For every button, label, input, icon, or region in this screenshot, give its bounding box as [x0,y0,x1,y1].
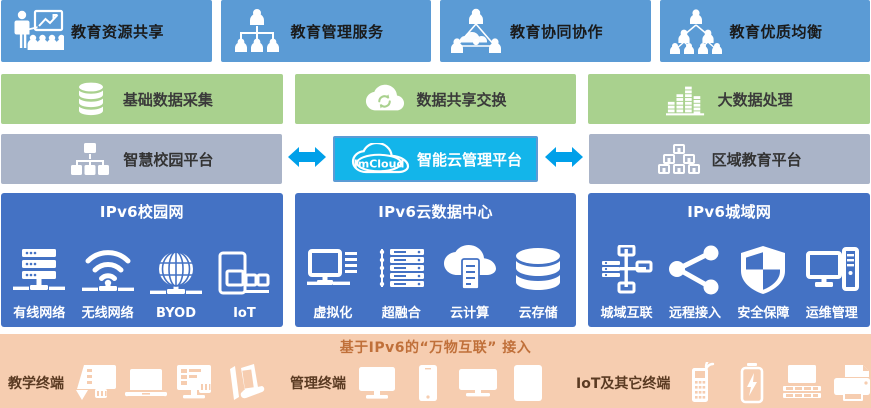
ipv6-item-label: 安全保障 [737,302,789,321]
data-card-label: 基础数据采集 [123,89,213,110]
ipv6-item-hyperconverged[interactable]: 超融合 [372,241,430,321]
cordless-phone-icon [680,361,724,405]
ipv6-item-label: 无线网络 [82,302,134,321]
ipv6-item-label: 远程接入 [669,302,721,321]
terminal-group-management: 管理终端 [290,361,550,405]
ipv6-panel-items: 有线网络 [1,226,283,327]
desktop-virtualization-icon [304,241,362,299]
ipv6-item-cloud-storage[interactable]: 云存储 [509,241,567,321]
service-card-education-collaboration[interactable]: 教育协同协作 [440,0,651,62]
cloud-storage-disks-icon [509,241,567,299]
service-card-education-management-service[interactable]: 教育管理服务 [221,0,432,62]
ipv6-row: IPv6校园网 [0,193,871,327]
ipv6-panel-items: 城域互联 [588,226,870,327]
service-card-label: 教育优质均衡 [730,21,823,42]
arrow-right-container [538,144,589,174]
terminal-group-label: IoT及其它终端 [576,373,670,393]
smartphone-icon [406,361,450,405]
share-nodes-remote-icon [666,241,724,299]
platform-card-label: 智慧校园平台 [123,149,213,170]
ipv6-item-label: BYOD [156,306,196,321]
ipv6-item-security[interactable]: 安全保障 [734,241,792,321]
desktop-monitor-icon [356,361,400,405]
ipv6-item-operations-management[interactable]: 运维管理 [803,241,861,321]
cloud-management-platform-card[interactable]: ImCloud 智能云管理平台 [333,136,539,182]
ipv6-item-virtualization[interactable]: 虚拟化 [304,241,362,321]
platform-card-regional-education[interactable]: 区域教育平台 [589,134,870,184]
ipv6-panel-metro-network[interactable]: IPv6城域网 [588,193,870,327]
cloud-collaboration-people-icon [448,6,504,56]
campus-network-tree-icon [69,140,111,178]
hyperconverged-rack-icon [372,241,430,299]
terminals-row: 基于IPv6的“万物互联” 接入 教学终端 [0,334,871,408]
database-stack-icon [71,81,111,117]
handheld-device-hand-icon [224,361,268,405]
ipv6-item-label: 云存储 [519,302,558,321]
double-arrow-right-icon [543,144,585,174]
data-card-data-sharing-exchange[interactable]: 数据共享交换 [295,74,577,124]
service-card-label: 教育资源共享 [71,21,164,42]
wifi-signal-icon [79,241,137,299]
service-card-education-quality-balance[interactable]: 教育优质均衡 [660,0,871,62]
ipv6-item-label: 城域互联 [601,302,653,321]
service-card-label: 教育协同协作 [510,21,603,42]
imcloud-logo-icon: ImCloud [349,142,415,176]
printer-icon [830,361,871,405]
server-rack-wired-icon [10,241,68,299]
av-equipment-icon [780,361,824,405]
ipv6-item-label: 有线网络 [13,302,65,321]
terminals-band-title: 基于IPv6的“万物互联” 接入 [0,337,871,357]
widescreen-monitor-icon [456,361,500,405]
ipv6-item-wireless-network[interactable]: 无线网络 [79,241,137,321]
platform-card-smart-campus[interactable]: 智慧校园平台 [1,134,282,184]
bar-chart-bigdata-icon [666,81,706,117]
org-hierarchy-people-icon [229,6,285,56]
globe-network-icon [147,245,205,303]
ipv6-item-cloud-computing[interactable]: 云计算 [441,241,499,321]
ipv6-panel-items: 虚拟化 [295,226,577,327]
terminal-group-iot-other: IoT及其它终端 [576,361,871,405]
terminals-groups: 教学终端 [0,358,871,408]
ipv6-item-remote-access[interactable]: 远程接入 [666,241,724,321]
platform-row: 智慧校园平台 ImCloud 智能云管理平台 [0,133,871,185]
cloud-sync-icon [365,81,405,117]
cloud-compute-icon [441,241,499,299]
terminal-group-label: 管理终端 [290,373,346,393]
ipv6-item-wired-network[interactable]: 有线网络 [10,241,68,321]
ipv6-item-label: 超融合 [382,302,421,321]
terminal-group-icons [680,361,871,405]
data-card-label: 大数据处理 [718,89,793,110]
tablet-icon [506,361,550,405]
imcloud-brand-text: ImCloud [354,157,405,170]
platform-card-label: 区域教育平台 [712,149,802,170]
terminal-group-teaching: 教学终端 [8,361,268,405]
ipv6-item-label: 云计算 [450,302,489,321]
monitor-ops-icon [803,241,861,299]
data-card-bigdata-processing[interactable]: 大数据处理 [588,74,870,124]
metro-interconnect-icon [598,241,656,299]
terminal-group-icons [356,361,550,405]
ipv6-item-metro-interconnect[interactable]: 城域互联 [598,241,656,321]
ipv6-panel-campus-network[interactable]: IPv6校园网 [1,193,283,327]
ipv6-item-label: 运维管理 [806,302,858,321]
terminal-group-icons [74,361,268,405]
terminal-group-label: 教学终端 [8,373,64,393]
data-row: 基础数据采集 数据共享交换 [0,74,871,126]
ipv6-item-iot[interactable]: IoT [215,245,273,321]
services-row: 教育资源共享 [0,0,871,66]
ipv6-item-label: 虚拟化 [313,302,352,321]
data-card-label: 数据共享交换 [417,89,507,110]
power-battery-icon [730,361,774,405]
ipv6-panel-title: IPv6云数据中心 [378,201,493,222]
buildings-stack-icon [658,140,700,178]
ipv6-panel-cloud-data-center[interactable]: IPv6云数据中心 [295,193,577,327]
data-card-basic-data-collection[interactable]: 基础数据采集 [1,74,283,124]
ipv6-panel-title: IPv6校园网 [100,201,184,222]
teacher-presentation-icon [9,6,65,56]
ipv6-education-architecture-diagram: 教育资源共享 [0,0,871,408]
service-card-label: 教育管理服务 [291,21,384,42]
laptop-icon [124,361,168,405]
iot-devices-icon [215,245,273,303]
double-arrow-left-icon [286,144,328,174]
ipv6-panel-title: IPv6城域网 [687,201,771,222]
shield-security-icon [734,241,792,299]
ipv6-item-byod[interactable]: BYOD [147,245,205,321]
interactive-tablet-hand-icon [74,361,118,405]
cloud-platform-label: 智能云管理平台 [417,149,522,170]
touch-monitor-hand-icon [174,361,218,405]
people-pyramid-icon [668,6,724,56]
ipv6-item-label: IoT [233,306,256,321]
service-card-education-resource-sharing[interactable]: 教育资源共享 [1,0,212,62]
arrow-left-container [282,144,333,174]
